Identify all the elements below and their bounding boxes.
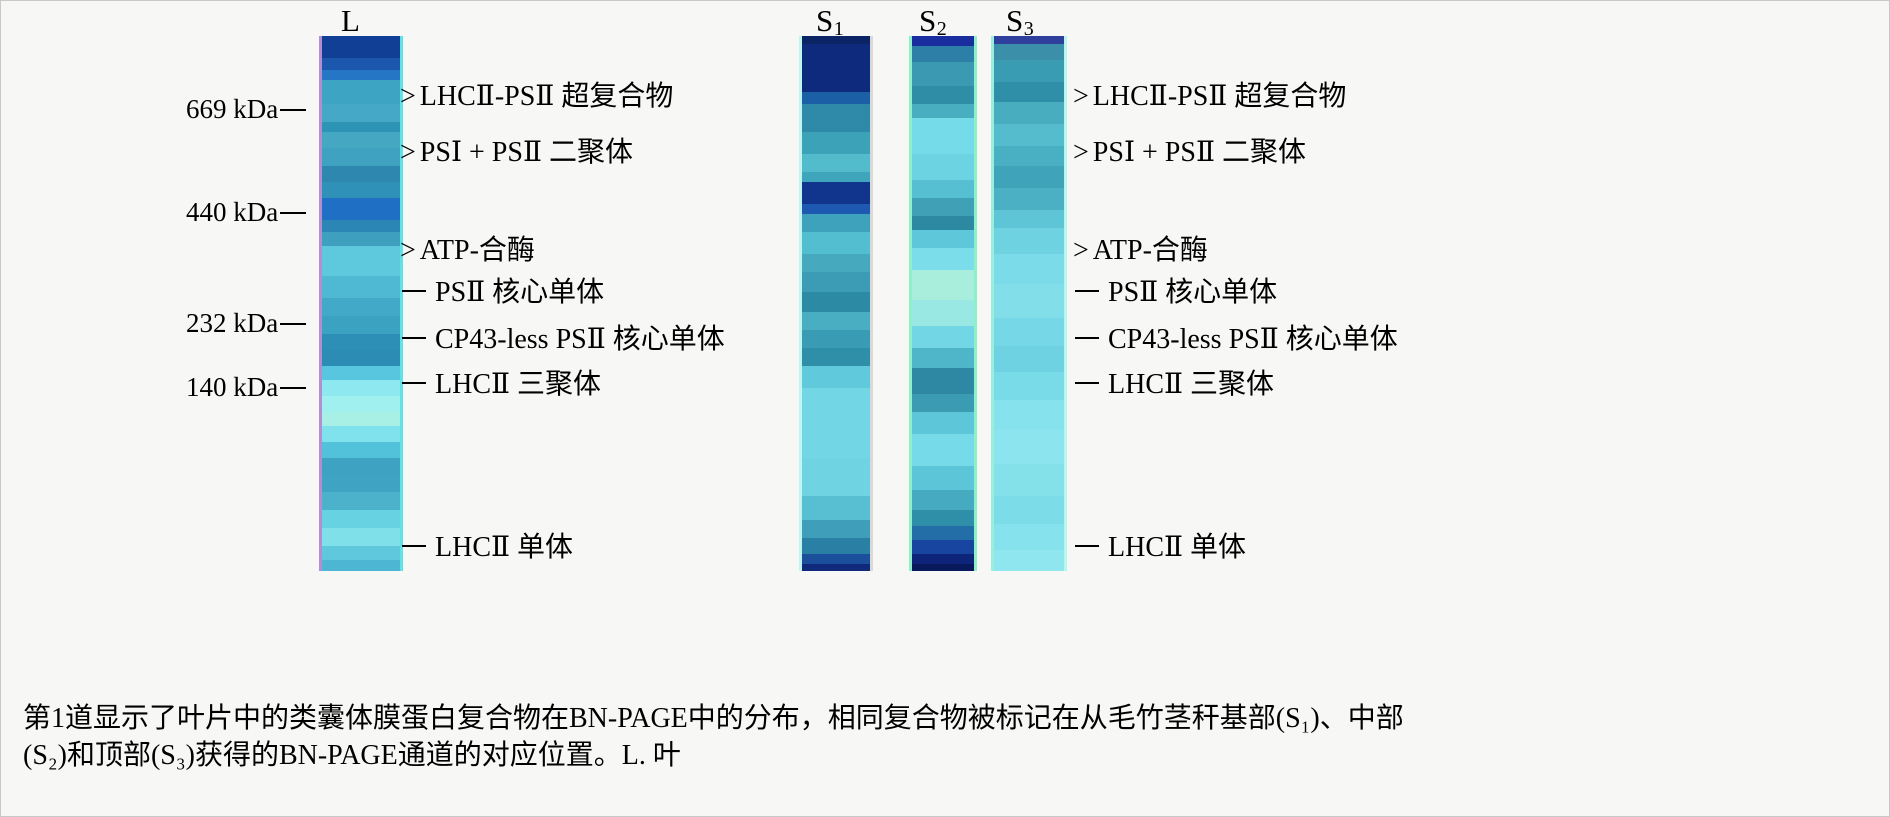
gel-band: [909, 510, 977, 526]
gel-band: [799, 520, 873, 538]
annotation-left-psii-core-monomer: PSⅡ 核心单体: [402, 279, 604, 307]
figure-caption: 第1道显示了叶片中的类囊体膜蛋白复合物在BN-PAGE中的分布，相同复合物被标记…: [23, 701, 1863, 775]
gel-band: [799, 312, 873, 330]
annotation-right-lhcii-psii-supercomplex: >LHCⅡ-PSⅡ 超复合物: [1073, 83, 1346, 111]
annotation-left-label-6: LHCⅡ 单体: [435, 532, 573, 563]
gel-band: [319, 246, 403, 276]
annotation-left-lead-5: [402, 382, 426, 384]
gel-band: [319, 220, 403, 232]
gel-band: [991, 430, 1067, 464]
annotation-right-label-1: PSⅠ + PSⅡ 二聚体: [1093, 137, 1306, 168]
figure-root: L S1 S2 S3 669 kDa 440 kDa 232 kDa 140 k…: [0, 0, 1890, 817]
gel-band: [909, 326, 977, 348]
annotation-left-lhcii-monomer: LHCⅡ 单体: [402, 534, 573, 562]
gel-band: [909, 118, 977, 154]
gel-band: [799, 292, 873, 312]
mw-marker-232: 232 kDa: [186, 308, 306, 339]
gel-band: [319, 380, 403, 396]
gel-band: [799, 366, 873, 388]
gel-band: [909, 526, 977, 540]
gel-band: [991, 60, 1067, 82]
mw-marker-140: 140 kDa: [186, 372, 306, 403]
gel-band: [319, 442, 403, 458]
gel-band: [799, 172, 873, 182]
gel-band: [799, 154, 873, 172]
gel-band: [319, 492, 403, 510]
gel-band: [319, 350, 403, 366]
gel-band: [799, 348, 873, 366]
gel-band: [909, 564, 977, 571]
annotation-left-lhcii-trimer: LHCⅡ 三聚体: [402, 371, 601, 399]
annotation-left-label-4: CP43-less PSⅡ 核心单体: [435, 324, 725, 355]
gel-band: [909, 368, 977, 394]
mw-marker-140-label: 140 kDa: [186, 372, 278, 403]
lane-header-S1: S1: [816, 5, 844, 39]
annotation-right-lead-4: [1075, 337, 1099, 339]
gel-band: [799, 92, 873, 104]
gel-band: [319, 182, 403, 198]
gel-band: [319, 232, 403, 246]
annotation-left-lead-4: [402, 337, 426, 339]
gel-band: [909, 412, 977, 434]
gel-band: [799, 204, 873, 214]
mw-marker-440-label: 440 kDa: [186, 197, 278, 228]
gel-band: [991, 82, 1067, 102]
gel-band: [319, 560, 403, 571]
gel-band: [319, 58, 403, 70]
gel-band: [319, 198, 403, 220]
annotation-right-label-3: PSⅡ 核心单体: [1108, 277, 1277, 308]
gel-lane-edge-right: [870, 36, 873, 571]
gel-lane-edge-left: [991, 36, 994, 571]
gel-band: [319, 298, 403, 316]
gel-band: [909, 348, 977, 368]
gel-band: [991, 166, 1067, 188]
gel-band: [319, 80, 403, 104]
gel-band: [799, 458, 873, 496]
gel-band: [991, 550, 1067, 571]
gel-band: [319, 476, 403, 492]
gel-lane-bands-S3: [991, 36, 1067, 571]
gel-band: [799, 214, 873, 232]
gel-band: [319, 334, 403, 350]
annotation-right-lead-0: >: [1073, 83, 1089, 111]
gel-band: [991, 210, 1067, 228]
gel-band: [319, 132, 403, 148]
gel-band: [991, 188, 1067, 210]
gel-band: [909, 394, 977, 412]
gel-band: [909, 248, 977, 270]
gel-band: [991, 102, 1067, 124]
gel-band: [991, 318, 1067, 346]
gel-band: [909, 434, 977, 466]
annotation-left-label-2: ATP-合酶: [420, 235, 535, 266]
gel-band: [909, 62, 977, 86]
annotation-right-lead-2: >: [1073, 237, 1089, 265]
gel-band: [799, 496, 873, 520]
gel-band: [991, 228, 1067, 254]
lane-header-S1-label: S: [816, 3, 834, 38]
gel-band: [991, 372, 1067, 400]
gel-band: [319, 104, 403, 122]
gel-band: [799, 182, 873, 204]
gel-band: [799, 272, 873, 292]
gel-band: [991, 36, 1067, 44]
gel-band: [991, 284, 1067, 318]
gel-band: [909, 554, 977, 564]
annotation-left-lhcii-psii-supercomplex: >LHCⅡ-PSⅡ 超复合物: [400, 83, 673, 111]
gel-band: [909, 198, 977, 216]
gel-band: [799, 554, 873, 564]
mw-marker-440: 440 kDa: [186, 197, 306, 228]
gel-band: [909, 86, 977, 104]
annotation-right-psii-core-monomer: PSⅡ 核心单体: [1075, 279, 1277, 307]
gel-lane-edge-left: [799, 36, 802, 571]
gel-band: [909, 300, 977, 326]
mw-marker-669-tick: [280, 109, 306, 111]
annotation-left-label-1: PSⅠ + PSⅡ 二聚体: [420, 137, 633, 168]
gel-band: [991, 254, 1067, 284]
gel-lane-S2: [909, 36, 977, 571]
gel-lane-edge-left: [909, 36, 912, 571]
annotation-right-lead-1: >: [1073, 139, 1089, 167]
gel-band: [319, 148, 403, 166]
gel-band: [319, 458, 403, 476]
gel-lane-edge-right: [974, 36, 977, 571]
annotation-right-lhcii-monomer: LHCⅡ 单体: [1075, 534, 1246, 562]
gel-lane-L: [319, 36, 403, 571]
annotation-left-cp43-less-psii-core-monomer: CP43-less PSⅡ 核心单体: [402, 326, 725, 354]
gel-band: [319, 276, 403, 298]
annotation-right-lead-5: [1075, 382, 1099, 384]
gel-band: [319, 70, 403, 80]
figure-caption-line-2: (S₂)和顶部(S₃)获得的BN-PAGE通道的对应位置。L. 叶: [23, 738, 1863, 775]
gel-band: [991, 524, 1067, 550]
gel-lane-S1: [799, 36, 873, 571]
annotation-right-psi-psii-dimer: >PSⅠ + PSⅡ 二聚体: [1073, 139, 1306, 167]
gel-band: [799, 232, 873, 254]
gel-band: [991, 496, 1067, 524]
gel-lane-bands-S1: [799, 36, 873, 571]
gel-band: [991, 400, 1067, 430]
mw-marker-140-tick: [280, 387, 306, 389]
gel-band: [909, 230, 977, 248]
annotation-right-label-5: LHCⅡ 三聚体: [1108, 369, 1274, 400]
lane-header-S3-label: S: [1006, 3, 1024, 38]
annotation-left-lead-6: [402, 545, 426, 547]
gel-band: [909, 46, 977, 62]
annotation-left-atp-synthase: >ATP-合酶: [400, 237, 535, 265]
annotation-left-label-3: PSⅡ 核心单体: [435, 277, 604, 308]
annotation-left-lead-2: >: [400, 237, 416, 265]
gel-band: [319, 316, 403, 334]
gel-band: [991, 346, 1067, 372]
gel-band: [799, 36, 873, 44]
gel-band: [319, 426, 403, 442]
gel-lane-edge-right: [1064, 36, 1067, 571]
gel-band: [319, 546, 403, 560]
gel-lane-bands-L: [319, 36, 403, 571]
gel-band: [909, 180, 977, 198]
gel-band: [799, 132, 873, 154]
annotation-left-label-5: LHCⅡ 三聚体: [435, 369, 601, 400]
annotation-left-lead-0: >: [400, 83, 416, 111]
gel-band: [799, 564, 873, 571]
gel-band: [799, 330, 873, 348]
annotation-left-lead-3: [402, 290, 426, 292]
gel-band: [799, 254, 873, 272]
gel-band: [319, 122, 403, 132]
annotation-right-label-4: CP43-less PSⅡ 核心单体: [1108, 324, 1398, 355]
gel-band: [909, 270, 977, 300]
lane-header-S3: S3: [1006, 5, 1034, 39]
gel-band: [909, 154, 977, 180]
gel-band: [799, 538, 873, 554]
gel-band: [799, 104, 873, 132]
lane-header-L: L: [341, 5, 360, 36]
annotation-right-lead-6: [1075, 545, 1099, 547]
annotation-left-lead-1: >: [400, 139, 416, 167]
gel-lane-bands-S2: [909, 36, 977, 571]
mw-marker-669: 669 kDa: [186, 94, 306, 125]
gel-band: [909, 216, 977, 230]
annotation-left-label-0: LHCⅡ-PSⅡ 超复合物: [420, 81, 674, 112]
annotation-right-label-2: ATP-合酶: [1093, 235, 1208, 266]
mw-marker-440-tick: [280, 212, 306, 214]
mw-marker-669-label: 669 kDa: [186, 94, 278, 125]
gel-band: [319, 510, 403, 528]
mw-marker-232-tick: [280, 323, 306, 325]
annotation-right-label-0: LHCⅡ-PSⅡ 超复合物: [1093, 81, 1347, 112]
gel-band: [991, 464, 1067, 496]
gel-band: [909, 36, 977, 46]
gel-band: [319, 396, 403, 412]
gel-lane-edge-left: [319, 36, 322, 571]
gel-band: [319, 412, 403, 426]
gel-band: [319, 36, 403, 58]
gel-band: [319, 528, 403, 546]
gel-band: [319, 366, 403, 380]
gel-band: [909, 540, 977, 554]
figure-caption-line-1: 第1道显示了叶片中的类囊体膜蛋白复合物在BN-PAGE中的分布，相同复合物被标记…: [23, 701, 1863, 738]
gel-band: [909, 466, 977, 490]
gel-band: [799, 388, 873, 458]
gel-band: [991, 44, 1067, 60]
annotation-right-cp43-less-psii-core-monomer: CP43-less PSⅡ 核心单体: [1075, 326, 1398, 354]
gel-band: [991, 146, 1067, 166]
annotation-left-psi-psii-dimer: >PSⅠ + PSⅡ 二聚体: [400, 139, 633, 167]
gel-band: [319, 166, 403, 182]
gel-lane-S3: [991, 36, 1067, 571]
lane-header-L-label: L: [341, 3, 360, 38]
gel-band: [799, 44, 873, 92]
annotation-right-lead-3: [1075, 290, 1099, 292]
gel-band: [909, 104, 977, 118]
annotation-right-lhcii-trimer: LHCⅡ 三聚体: [1075, 371, 1274, 399]
annotation-right-atp-synthase: >ATP-合酶: [1073, 237, 1208, 265]
lane-header-S2: S2: [919, 5, 947, 39]
lane-header-S2-label: S: [919, 3, 937, 38]
annotation-right-label-6: LHCⅡ 单体: [1108, 532, 1246, 563]
gel-band: [909, 490, 977, 510]
mw-marker-232-label: 232 kDa: [186, 308, 278, 339]
gel-band: [991, 124, 1067, 146]
